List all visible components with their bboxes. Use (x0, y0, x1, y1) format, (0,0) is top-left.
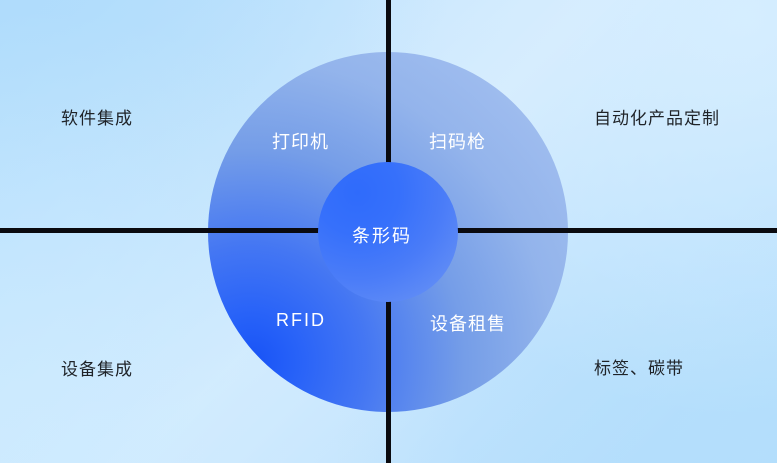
ring-label-rfid: RFID (276, 310, 326, 331)
diagram-canvas: 条形码 打印机 扫码枪 RFID 设备租售 软件集成 自动化产品定制 设备集成 … (0, 0, 777, 463)
quadrant-label-automation-customization: 自动化产品定制 (594, 104, 720, 129)
core-label: 条形码 (352, 222, 412, 248)
ring-label-equipment-rental: 设备租售 (430, 310, 506, 336)
quadrant-label-software-integration: 软件集成 (61, 104, 133, 129)
ring-label-scanner: 扫码枪 (429, 128, 486, 154)
ring-label-printer: 打印机 (272, 128, 329, 154)
quadrant-label-labels-ribbons: 标签、碳带 (594, 354, 684, 379)
quadrant-label-device-integration: 设备集成 (61, 355, 133, 380)
